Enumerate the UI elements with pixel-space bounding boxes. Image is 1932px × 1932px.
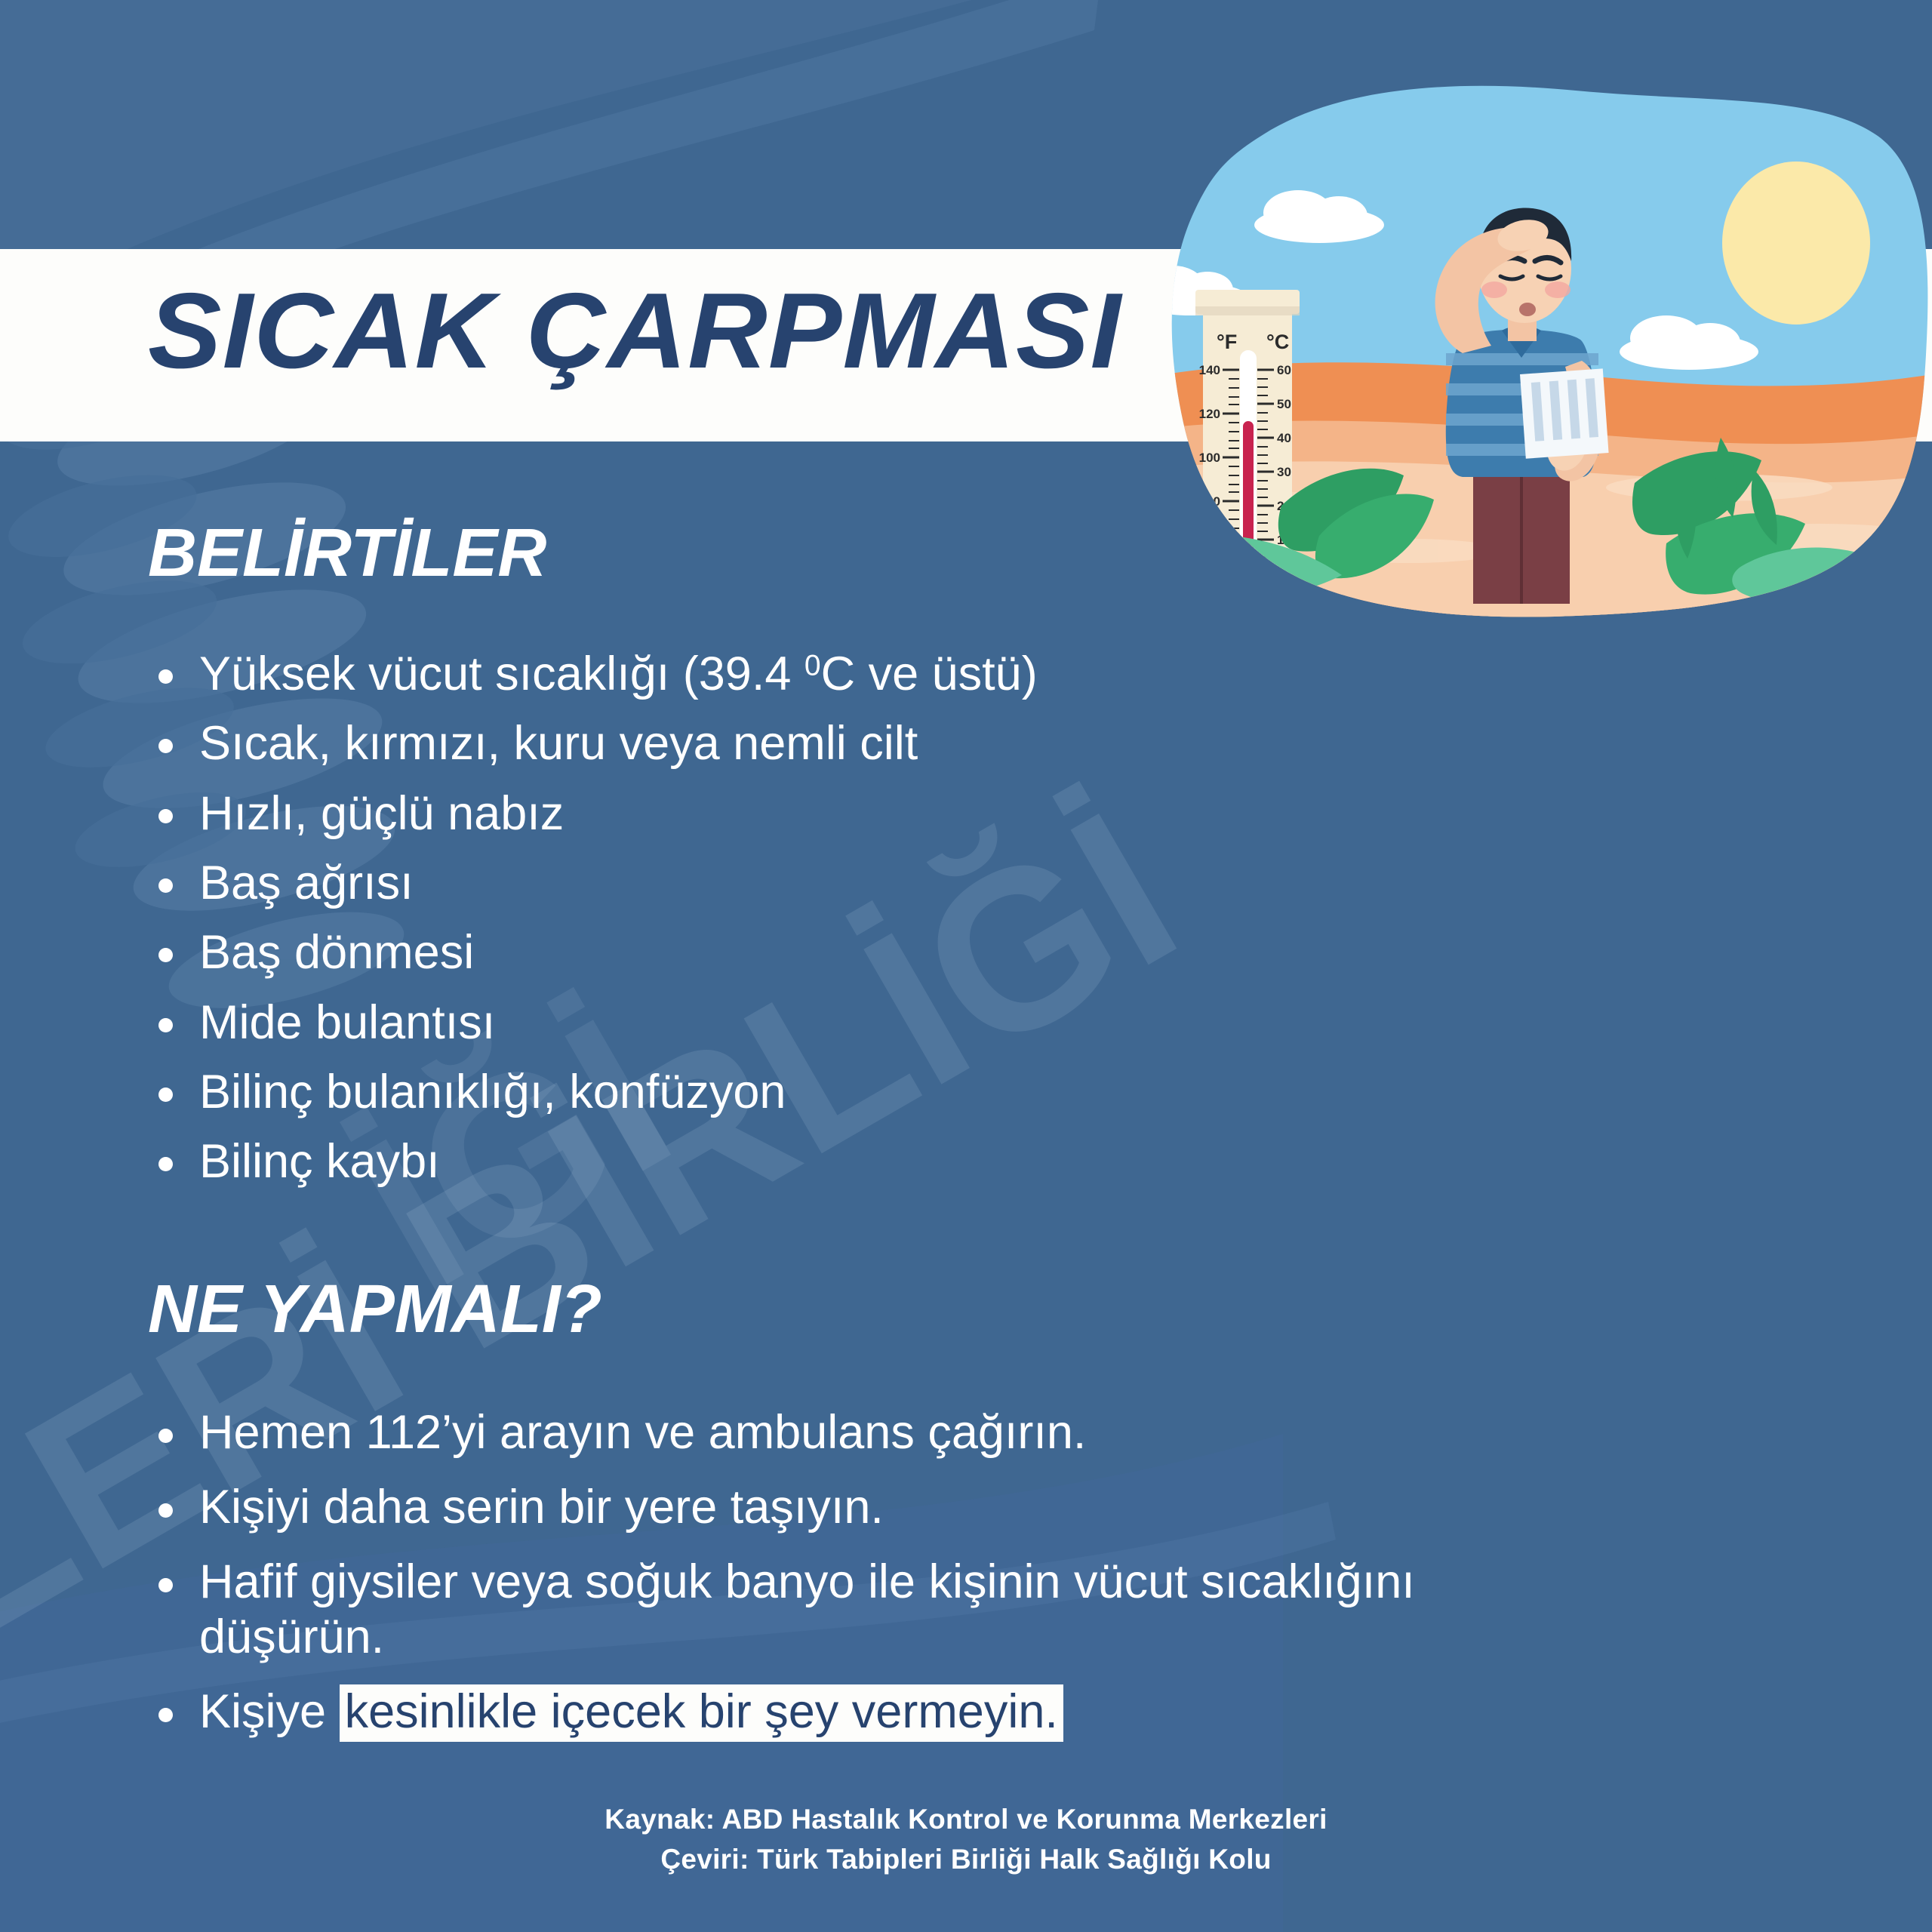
list-item: Hızlı, güçlü nabız [148, 786, 1431, 841]
list-item: Sıcak, kırmızı, kuru veya nemli cilt [148, 715, 1431, 771]
list-item: Yüksek vücut sıcaklığı (39.4 0C ve üstü) [148, 646, 1431, 702]
list-item: Bilinç kaybı [148, 1134, 1431, 1189]
symptoms-list: Yüksek vücut sıcaklığı (39.4 0C ve üstü)… [148, 646, 1431, 1204]
list-item: Baş dönmesi [148, 924, 1431, 980]
footer-credits: Kaynak: ABD Hastalık Kontrol ve Korunma … [0, 1800, 1932, 1879]
actions-list: Hemen 112’yi arayın ve ambulans çağırın.… [148, 1405, 1476, 1759]
list-item-text: Hafif giysiler veya soğuk banyo ile kişi… [199, 1555, 1415, 1663]
svg-text:60: 60 [1277, 363, 1291, 377]
svg-text:80: 80 [1206, 494, 1220, 509]
svg-text:50: 50 [1277, 397, 1291, 411]
footer-translation: Çeviri: Türk Tabipleri Birliği Halk Sağl… [0, 1840, 1932, 1880]
list-item-text: Kişiye [199, 1685, 340, 1738]
section-heading-symptoms: BELİRTİLER [148, 519, 546, 587]
svg-text:°F: °F [1217, 331, 1237, 353]
list-item-text: Mide bulantısı [199, 996, 495, 1049]
list-item-text: Bilinç bulanıklığı, konfüzyon [199, 1066, 786, 1118]
list-item-text: Hemen 112’yi arayın ve ambulans çağırın. [199, 1406, 1086, 1459]
svg-text:40: 40 [1277, 431, 1291, 445]
heat-stroke-illustration: °F °C [1093, 83, 1932, 679]
svg-text:°C: °C [1266, 331, 1289, 353]
list-item-text: Baş ağrısı [199, 857, 414, 909]
sun-icon [1722, 162, 1870, 325]
list-item: Hafif giysiler veya soğuk banyo ile kişi… [148, 1555, 1476, 1665]
poster-root: LERİ BİRLİĞİ İĞİ [0, 0, 1932, 1932]
list-item-text: Baş dönmesi [199, 926, 474, 979]
page-title: SICAK ÇARPMASI [148, 278, 1121, 385]
list-item: Mide bulantısı [148, 995, 1431, 1051]
list-item: Hemen 112’yi arayın ve ambulans çağırın. [148, 1405, 1476, 1460]
list-item-text: Bilinç kaybı [199, 1135, 440, 1188]
svg-text:120: 120 [1199, 407, 1220, 421]
section-heading-actions: NE YAPMALI? [148, 1275, 602, 1343]
list-item-text: Yüksek vücut sıcaklığı (39.4 0C ve üstü) [199, 648, 1038, 700]
list-item: Baş ağrısı [148, 855, 1431, 911]
list-item: Kişiye kesinlikle içecek bir şey vermeyi… [148, 1684, 1476, 1740]
thermometer-icon: °F °C [1195, 290, 1300, 626]
napkin-icon [1520, 368, 1609, 458]
svg-text:60: 60 [1206, 538, 1220, 552]
highlighted-warning: kesinlikle içecek bir şey vermeyin. [340, 1684, 1063, 1742]
svg-text:-10: -10 [1277, 601, 1296, 615]
footer-source: Kaynak: ABD Hastalık Kontrol ve Korunma … [0, 1800, 1932, 1840]
svg-text:140: 140 [1199, 363, 1220, 377]
list-item: Kişiyi daha serin bir yere taşıyın. [148, 1480, 1476, 1535]
list-item-text: Sıcak, kırmızı, kuru veya nemli cilt [199, 717, 918, 770]
list-item-text: Hızlı, güçlü nabız [199, 787, 564, 840]
list-item-text: Kişiyi daha serin bir yere taşıyın. [199, 1481, 884, 1534]
svg-text:40: 40 [1206, 582, 1220, 596]
svg-text:100: 100 [1199, 451, 1220, 465]
svg-text:30: 30 [1277, 465, 1291, 479]
list-item: Bilinç bulanıklığı, konfüzyon [148, 1064, 1431, 1120]
